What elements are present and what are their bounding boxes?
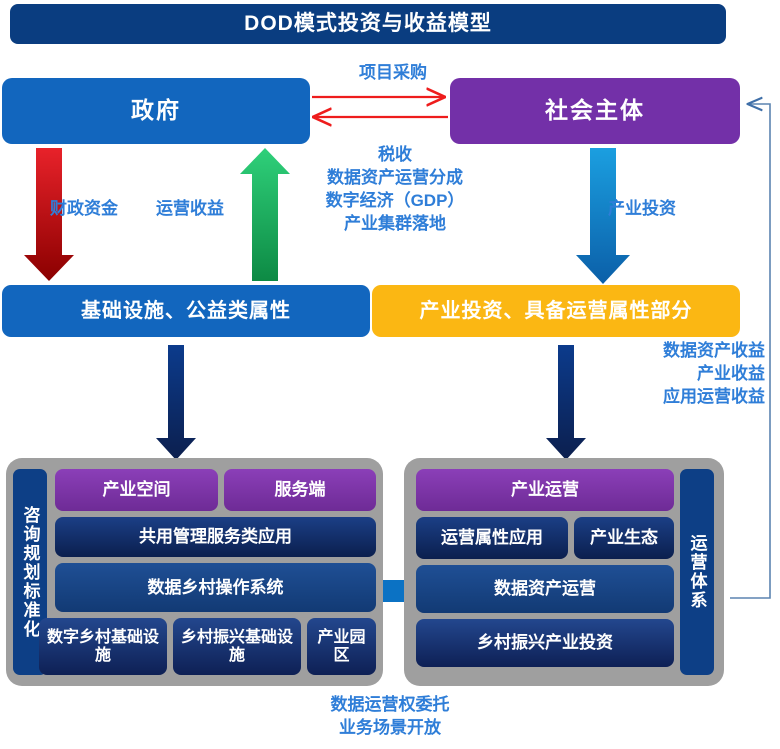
label-right-income-block: 数据资产收益 产业收益 应用运营收益 xyxy=(600,340,765,409)
page-title: DOD模式投资与收益模型 xyxy=(10,4,726,44)
right-chip-operating-attribute-apps[interactable]: 运营属性应用 xyxy=(416,517,568,559)
left-chip-digital-village-infra[interactable]: 数字乡村基础设施 xyxy=(39,618,167,675)
arrow-to-right-platform xyxy=(546,345,586,460)
node-infrastructure-public-welfare[interactable]: 基础设施、公益类属性 xyxy=(2,285,370,337)
label-returns-block: 税收 数据资产运营分成 数字经济（GDP） 产业集群落地 xyxy=(300,144,490,236)
right-chip-industry-operation[interactable]: 产业运营 xyxy=(416,469,674,511)
right-chip-industry-ecosystem[interactable]: 产业生态 xyxy=(574,517,674,559)
right-panel-side-label: 运营体系 xyxy=(680,469,714,675)
left-chip-rural-revitalization-infra[interactable]: 乡村振兴基础设施 xyxy=(173,618,301,675)
arrow-to-left-platform xyxy=(156,345,196,460)
right-chip-data-asset-operation[interactable]: 数据资产运营 xyxy=(416,565,674,613)
diagram-canvas: DOD模式投资与收益模型 政府 社会主体 基础设施、公益类属性 产业投资、具备运… xyxy=(0,0,780,749)
platform-left: 咨询规划标准化 产业空间 服务端 共用管理服务类应用 数据乡村操作系统 数字乡村… xyxy=(6,458,383,686)
node-industrial-investment-operating[interactable]: 产业投资、具备运营属性部分 xyxy=(372,285,740,337)
right-chip-rural-revitalization-investment[interactable]: 乡村振兴产业投资 xyxy=(416,619,674,667)
label-bottom-caption: 数据运营权委托 业务场景开放 xyxy=(290,694,490,740)
left-chip-industrial-park[interactable]: 产业园区 xyxy=(307,618,376,675)
left-chip-service-end[interactable]: 服务端 xyxy=(224,469,376,511)
node-social-entity[interactable]: 社会主体 xyxy=(450,78,740,144)
label-industrial-investment: 产业投资 xyxy=(608,198,718,221)
left-chip-industry-space[interactable]: 产业空间 xyxy=(55,469,218,511)
node-government[interactable]: 政府 xyxy=(2,78,310,144)
left-chip-data-village-os[interactable]: 数据乡村操作系统 xyxy=(55,563,376,612)
label-operating-income: 运营收益 xyxy=(156,198,256,221)
platform-right: 运营体系 产业运营 运营属性应用 产业生态 数据资产运营 乡村振兴产业投资 xyxy=(404,458,724,686)
label-fiscal-funds: 财政资金 xyxy=(50,198,150,221)
left-chip-shared-mgmt-service-apps[interactable]: 共用管理服务类应用 xyxy=(55,517,376,557)
label-procurement: 项目采购 xyxy=(333,62,453,85)
